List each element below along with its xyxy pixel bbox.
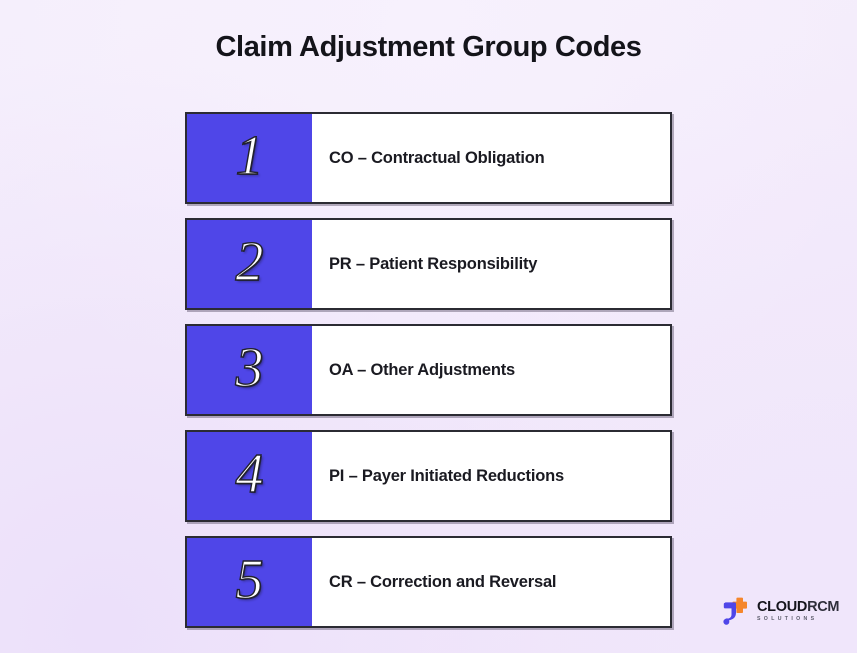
card-number-text: 5 <box>236 552 264 608</box>
card-label-text: CO – Contractual Obligation <box>312 114 670 202</box>
card-number-badge: 4 <box>187 432 312 520</box>
card-number-badge: 3 <box>187 326 312 414</box>
card-number-text: 1 <box>236 128 264 184</box>
list-item[interactable]: 5 CR – Correction and Reversal <box>185 536 672 628</box>
logo-wordmark-primary: CLOUD <box>757 599 807 615</box>
card-label-text: PR – Patient Responsibility <box>312 220 670 308</box>
card-number-badge: 2 <box>187 220 312 308</box>
card-label-text: CR – Correction and Reversal <box>312 538 670 626</box>
logo-wordmark: CLOUDRCM <box>757 600 839 615</box>
list-item[interactable]: 3 OA – Other Adjustments <box>185 324 672 416</box>
card-number-text: 2 <box>236 234 264 290</box>
brand-logo: CLOUDRCM SOLUTIONS <box>722 596 839 626</box>
logo-wordmark-secondary: RCM <box>807 599 839 615</box>
list-item[interactable]: 2 PR – Patient Responsibility <box>185 218 672 310</box>
slide-canvas: Claim Adjustment Group Codes 1 CO – Cont… <box>0 0 857 653</box>
card-label-text: OA – Other Adjustments <box>312 326 670 414</box>
list-item[interactable]: 1 CO – Contractual Obligation <box>185 112 672 204</box>
card-number-badge: 1 <box>187 114 312 202</box>
list-item[interactable]: 4 PI – Payer Initiated Reductions <box>185 430 672 522</box>
claim-code-list: 1 CO – Contractual Obligation 2 PR – Pat… <box>185 112 672 628</box>
logo-text-block: CLOUDRCM SOLUTIONS <box>757 600 839 622</box>
card-label-text: PI – Payer Initiated Reductions <box>312 432 670 520</box>
logo-tagline: SOLUTIONS <box>757 617 839 622</box>
page-title: Claim Adjustment Group Codes <box>0 31 857 64</box>
card-number-text: 3 <box>236 340 264 396</box>
card-number-text: 4 <box>236 446 264 502</box>
cloud-cross-icon <box>722 596 750 626</box>
card-number-badge: 5 <box>187 538 312 626</box>
